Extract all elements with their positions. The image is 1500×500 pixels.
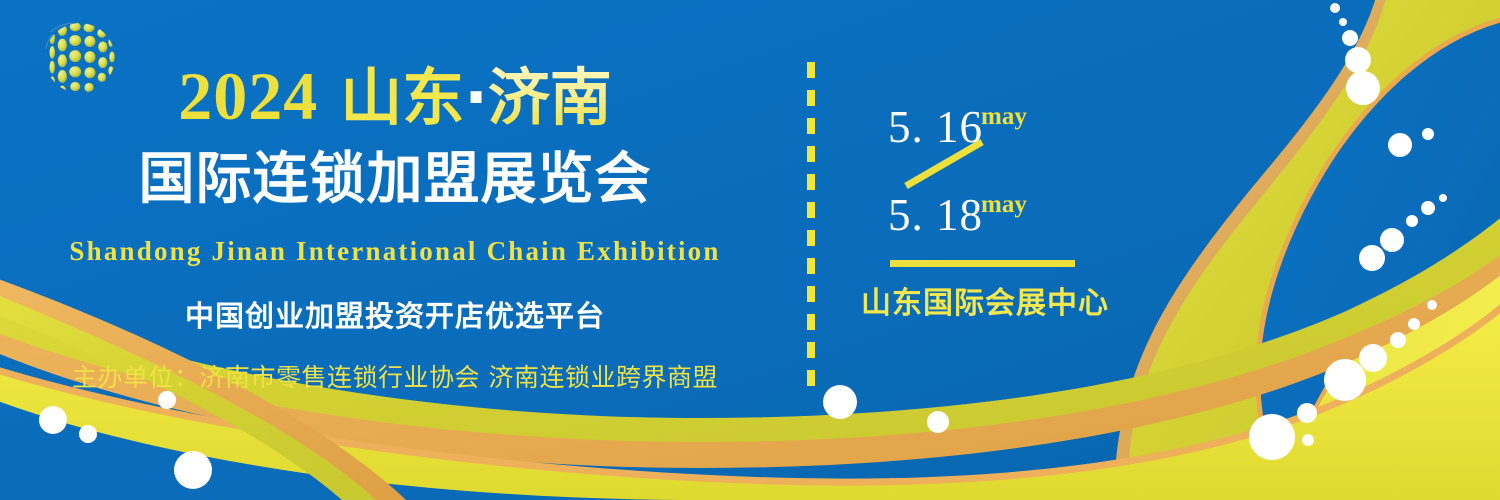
dashed-divider xyxy=(807,62,815,392)
slogan-text: 中国创业加盟投资开店优选平台 xyxy=(0,293,790,335)
date-venue-block: 5. 16may 5. 18may 山东国际会展中心 xyxy=(840,80,1130,330)
end-date-number: 5. 18 xyxy=(888,190,983,240)
end-date-month: may xyxy=(981,191,1027,218)
title-line-2: 国际连锁加盟展览会 xyxy=(0,152,790,208)
subtitle-english: Shandong Jinan International Chain Exhib… xyxy=(0,236,790,267)
venue-underline xyxy=(890,260,1075,267)
date-range-slash-icon xyxy=(900,138,988,190)
organizer-text: 主办单位：济南市零售连锁行业协会 济南连锁业跨界商盟 xyxy=(0,358,790,394)
title-year: 2024 xyxy=(178,58,318,134)
exhibition-banner: 2024山东·济南 国际连锁加盟展览会 Shandong Jinan Inter… xyxy=(0,0,1500,500)
start-date-month: may xyxy=(981,103,1027,130)
headline-block: 2024山东·济南 国际连锁加盟展览会 Shandong Jinan Inter… xyxy=(0,0,800,500)
venue-name: 山东国际会展中心 xyxy=(840,278,1130,322)
title-event-name: 国际连锁加盟展览会 xyxy=(139,147,652,212)
end-date-line: 5. 18may xyxy=(888,193,1029,238)
title-province: 山东 xyxy=(340,61,464,134)
title-separator-dot: · xyxy=(464,61,488,134)
title-city: 济南 xyxy=(488,61,612,134)
title-line-1: 2024山东·济南 xyxy=(0,62,790,130)
